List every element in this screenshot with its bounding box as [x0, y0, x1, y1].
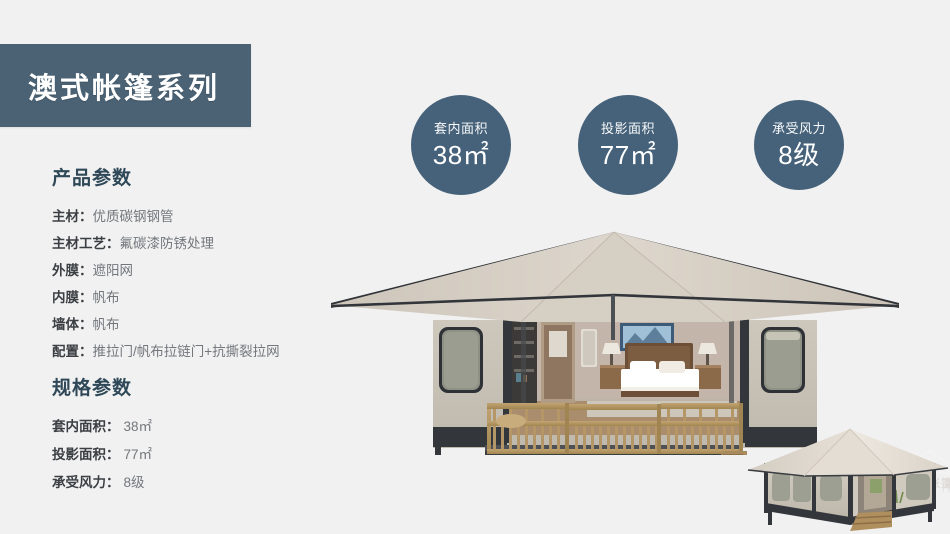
badge-value: 8级: [778, 142, 819, 168]
spec-label: 内膜：: [52, 290, 93, 305]
secondary-tent-image: [742, 415, 950, 534]
product-spec-page: 澳式帐篷系列 产品参数 主材：优质碳钢钢管 主材工艺：氟碳漆防锈处理 外膜：遮阳…: [0, 0, 950, 534]
spec-label: 承受风力：: [52, 475, 120, 490]
spec-label: 外膜：: [52, 263, 93, 278]
spec-label: 配置：: [52, 344, 93, 359]
spec-value: 帆布: [93, 317, 120, 332]
spec-value: 帆布: [93, 290, 120, 305]
spec-value: 77㎡: [120, 447, 153, 462]
spec-row: 主材工艺：氟碳漆防锈处理: [52, 230, 352, 257]
spec-value: 推拉门/帆布拉链门+抗撕裂拉网: [93, 344, 280, 359]
spec-row: 套内面积：38㎡: [52, 413, 352, 441]
spec-value: 优质碳钢钢管: [93, 209, 174, 224]
badge-value: 77㎡: [600, 142, 656, 168]
spec-value: 38㎡: [120, 419, 153, 434]
spec-row: 内膜：帆布: [52, 284, 352, 311]
spec-row: 主材：优质碳钢钢管: [52, 203, 352, 230]
badge-projected-area: 投影面积 77㎡: [578, 95, 678, 195]
series-title-text: 澳式帐篷系列: [28, 65, 220, 107]
spec-row: 墙体：帆布: [52, 311, 352, 338]
series-title-banner: 澳式帐篷系列: [0, 44, 251, 127]
spec-label: 投影面积：: [52, 447, 120, 462]
badge-interior-area: 套内面积 38㎡: [411, 95, 511, 195]
spec-row: 配置：推拉门/帆布拉链门+抗撕裂拉网: [52, 338, 352, 365]
specification-parameters-panel: 规格参数 套内面积：38㎡ 投影面积：77㎡ 承受风力：8级: [52, 373, 352, 497]
spec-label: 主材：: [52, 209, 93, 224]
spec-value: 氟碳漆防锈处理: [120, 236, 215, 251]
spec-value: 遮阳网: [93, 263, 134, 278]
spec-row: 投影面积：77㎡: [52, 441, 352, 469]
badge-label: 套内面积: [434, 122, 488, 135]
spec-label: 墙体：: [52, 317, 93, 332]
badge-wind-resistance: 承受风力 8级: [754, 100, 844, 190]
product-parameters-heading: 产品参数: [52, 163, 352, 190]
tent-angled-view-illustration: [742, 415, 950, 534]
spec-row: 承受风力：8级: [52, 469, 352, 497]
specification-parameters-heading: 规格参数: [52, 373, 352, 400]
badge-value: 38㎡: [433, 142, 489, 168]
product-parameters-panel: 产品参数 主材：优质碳钢钢管 主材工艺：氟碳漆防锈处理 外膜：遮阳网 内膜：帆布…: [52, 163, 352, 365]
spec-label: 套内面积：: [52, 419, 120, 434]
spec-label: 主材工艺：: [52, 236, 120, 251]
spec-row: 外膜：遮阳网: [52, 257, 352, 284]
badge-label: 承受风力: [772, 122, 826, 135]
spec-value: 8级: [120, 475, 145, 490]
badge-label: 投影面积: [601, 122, 655, 135]
